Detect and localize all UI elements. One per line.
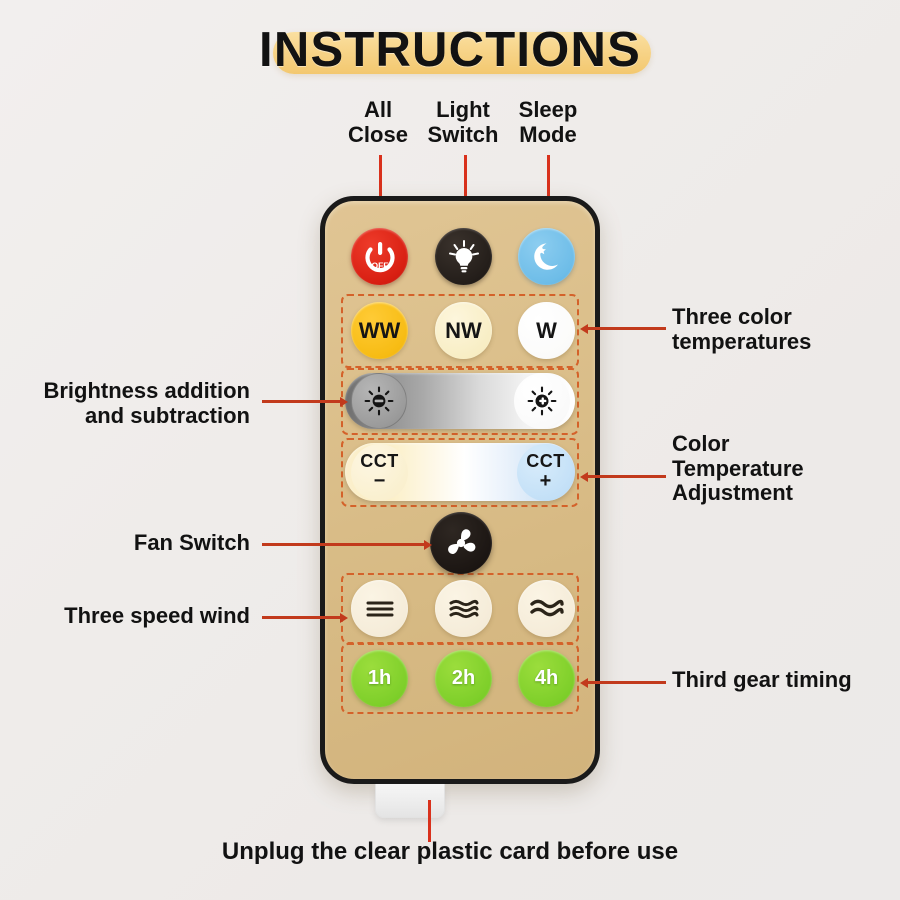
w-button[interactable]: W [518,302,575,359]
speed-low-icon [363,596,397,622]
callout-fan-switch: Fan Switch [18,531,250,556]
sun-plus-icon [526,385,558,417]
brightness-down-button[interactable] [351,373,407,429]
fan-icon [441,523,481,563]
timer-2h-label: 2h [452,667,475,690]
leader-line-color-temperature-adjustment [588,475,666,478]
leader-line-brightness [262,400,340,403]
callout-light-switch: Light Switch [415,98,511,147]
power-off-button[interactable]: OFF [351,228,408,285]
speed-1-button[interactable] [351,580,408,637]
timer-4h-label: 4h [535,667,558,690]
nw-button[interactable]: NW [435,302,492,359]
speed-high-icon [529,596,565,622]
leader-line-three-color-temperatures [588,327,666,330]
cct-plus-text: CCT [526,453,565,471]
leader-arrow-color-temperature-adjustment [580,472,588,482]
leader-line-three-speed-wind [262,616,340,619]
cct-plus-sign: + [540,472,552,492]
leader-arrow-fan-switch [424,540,432,550]
leader-line-plastic-card [428,800,431,842]
fan-switch-button[interactable] [430,512,492,574]
cct-minus-text: CCT [360,453,399,471]
cct-plus-label: CCT + [526,453,565,491]
leader-arrow-third-gear-timing [580,678,588,688]
leader-arrow-three-color-temperatures [580,324,588,334]
nw-label: NW [445,318,482,344]
callout-three-color-temperatures: Three color temperatures [672,305,892,354]
speed-3-button[interactable] [518,580,575,637]
timer-1h-label: 1h [368,667,391,690]
cct-minus-button[interactable]: CCT − [351,444,408,501]
footer-note: Unplug the clear plastic card before use [0,838,900,866]
ww-label: WW [359,318,401,344]
callout-all-close: All Close [330,98,426,147]
speed-2-button[interactable] [435,580,492,637]
callout-brightness: Brightness addition and subtraction [18,379,250,428]
callout-color-temperature-adjustment: Color Temperature Adjustment [672,432,892,506]
title-area: INSTRUCTIONS [0,14,900,86]
bulb-icon [444,237,484,277]
leader-arrow-brightness [340,397,348,407]
power-icon: OFF [360,237,400,277]
cct-minus-label: CCT − [360,453,399,491]
cct-plus-button[interactable]: CCT + [517,444,574,501]
brightness-up-button[interactable] [514,373,570,429]
clear-plastic-card-tab[interactable] [375,784,445,818]
cct-minus-sign: − [374,472,386,492]
light-switch-button[interactable] [435,228,492,285]
speed-medium-icon [447,596,481,622]
callout-third-gear-timing: Third gear timing [672,668,900,693]
sun-minus-icon [363,385,395,417]
svg-text:OFF: OFF [371,260,388,270]
sleep-mode-button[interactable] [518,228,575,285]
callout-three-speed-wind: Three speed wind [18,604,250,629]
instruction-sheet: INSTRUCTIONS All Close Light Switch Slee… [0,0,900,900]
timer-4h-button[interactable]: 4h [518,650,575,707]
leader-line-fan-switch [262,543,424,546]
leader-line-third-gear-timing [588,681,666,684]
w-label: W [536,318,557,344]
callout-sleep-mode: Sleep Mode [500,98,596,147]
timer-1h-button[interactable]: 1h [351,650,408,707]
timer-2h-button[interactable]: 2h [435,650,492,707]
page-title: INSTRUCTIONS [259,26,641,75]
leader-arrow-three-speed-wind [340,613,348,623]
ww-button[interactable]: WW [351,302,408,359]
moon-star-icon [527,237,567,277]
